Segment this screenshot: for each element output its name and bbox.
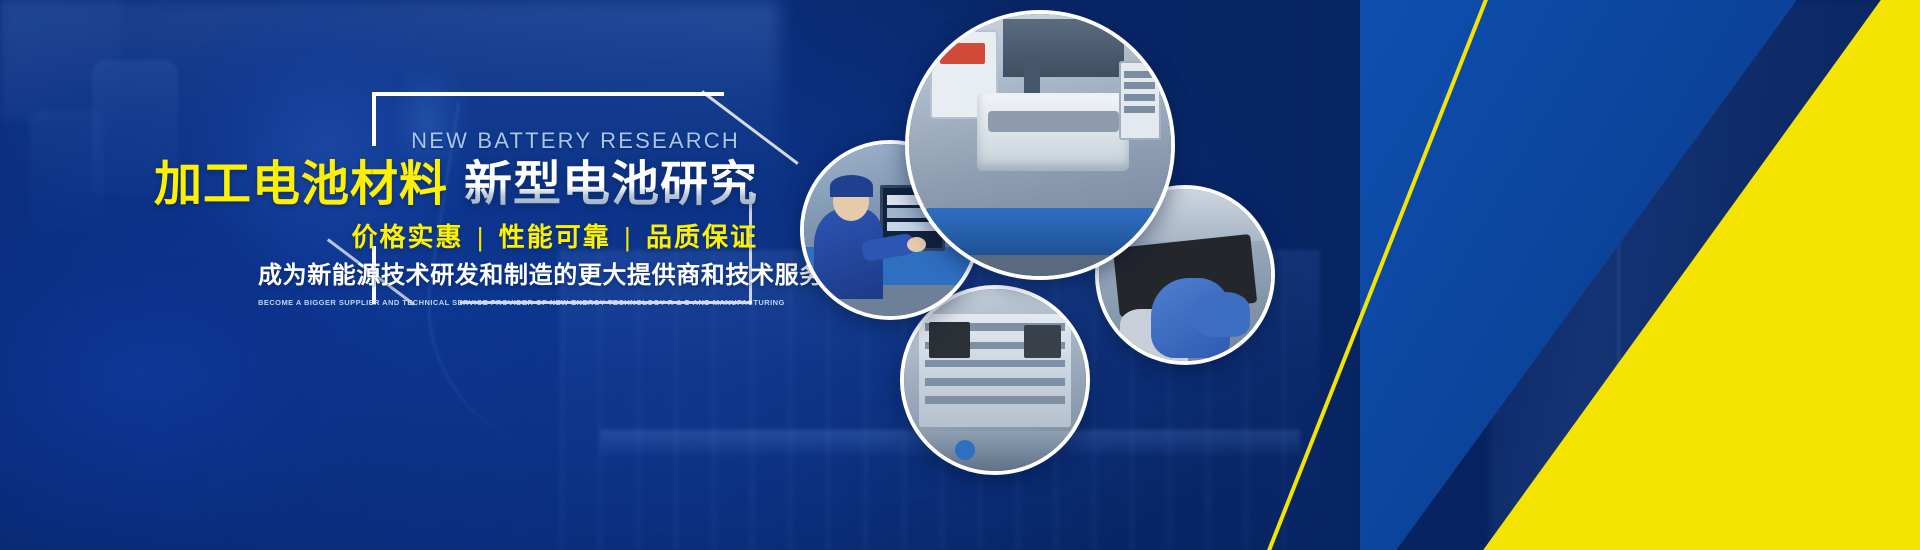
roller-web	[988, 111, 1119, 132]
photo-coating-machine	[909, 14, 1171, 276]
eyebrow-english: NEW BATTERY RESEARCH	[258, 130, 758, 152]
feature-item-price: 价格实惠	[351, 222, 463, 252]
machine-blue-base	[925, 208, 1156, 260]
photo-circle-coating-machine	[905, 10, 1175, 280]
machine-upper-frame	[1003, 19, 1124, 77]
hmi-panel	[1119, 61, 1161, 140]
blue-glove-right	[1192, 292, 1250, 337]
hero-copy: NEW BATTERY RESEARCH 加工电池材料 新型电池研究 价格实惠 …	[258, 130, 758, 306]
diagonal-yellow-accent-line	[1360, 0, 1920, 550]
headline-secondary: 新型电池研究	[464, 158, 758, 212]
tagline-chinese: 成为新能源技术研发和制造的更大提供商和技术服务商	[258, 264, 758, 288]
floor-object	[955, 440, 975, 460]
worker-cap	[830, 175, 873, 197]
hero-banner: NEW BATTERY RESEARCH 加工电池材料 新型电池研究 价格实惠 …	[0, 0, 1920, 550]
headline-primary: 加工电池材料	[154, 158, 448, 212]
feature-separator: |	[620, 222, 637, 252]
machine-foot	[909, 255, 1171, 276]
feature-item-performance: 性能可靠	[499, 222, 611, 252]
coating-roller	[977, 93, 1129, 172]
tagline-english: BECOME A BIGGER SUPPLIER AND TECHNICAL S…	[258, 299, 758, 307]
factory-floor	[904, 431, 1086, 471]
photo-equipment-rack	[904, 289, 1086, 471]
emergency-stop-indicator	[940, 43, 985, 64]
feature-item-quality: 品质保证	[646, 222, 758, 252]
rack-unit-a	[929, 322, 969, 358]
feature-list: 价格实惠 | 性能可靠 | 品质保证	[258, 224, 758, 250]
rack-unit-b	[1024, 325, 1060, 358]
headline: 加工电池材料 新型电池研究	[258, 158, 758, 212]
feature-separator: |	[473, 222, 490, 252]
